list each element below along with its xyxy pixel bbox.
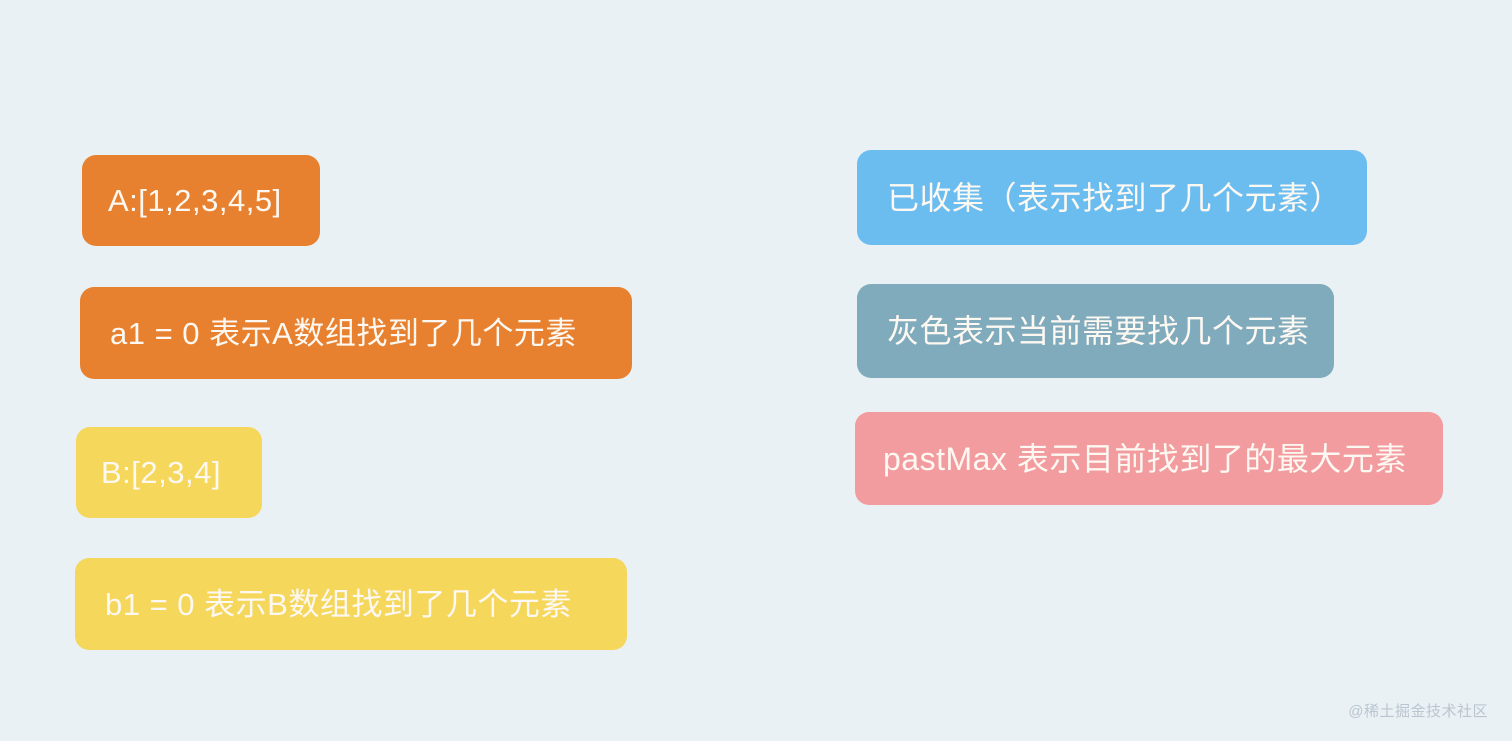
legend-item-collected: 已收集（表示找到了几个元素）	[857, 150, 1367, 245]
legend-item-past-max: pastMax 表示目前找到了的最大元素	[855, 412, 1443, 505]
legend-item-b1-pointer: b1 = 0 表示B数组找到了几个元素	[75, 558, 627, 650]
legend-item-gray-meaning: 灰色表示当前需要找几个元素	[857, 284, 1334, 378]
legend-canvas: A:[1,2,3,4,5] a1 = 0 表示A数组找到了几个元素 B:[2,3…	[0, 0, 1512, 741]
legend-item-array-b-label: B:[2,3,4]	[101, 457, 221, 488]
legend-item-array-b: B:[2,3,4]	[76, 427, 262, 518]
legend-item-a1-pointer: a1 = 0 表示A数组找到了几个元素	[80, 287, 632, 379]
legend-item-a1-pointer-label: a1 = 0 表示A数组找到了几个元素	[110, 318, 577, 349]
watermark: @稀土掘金技术社区	[1348, 700, 1488, 721]
legend-item-past-max-label: pastMax 表示目前找到了的最大元素	[883, 443, 1407, 475]
legend-item-collected-label: 已收集（表示找到了几个元素）	[887, 182, 1342, 214]
legend-item-gray-meaning-label: 灰色表示当前需要找几个元素	[887, 315, 1310, 347]
legend-item-b1-pointer-label: b1 = 0 表示B数组找到了几个元素	[105, 589, 572, 620]
legend-item-array-a: A:[1,2,3,4,5]	[82, 155, 320, 246]
legend-item-array-a-label: A:[1,2,3,4,5]	[108, 185, 282, 216]
